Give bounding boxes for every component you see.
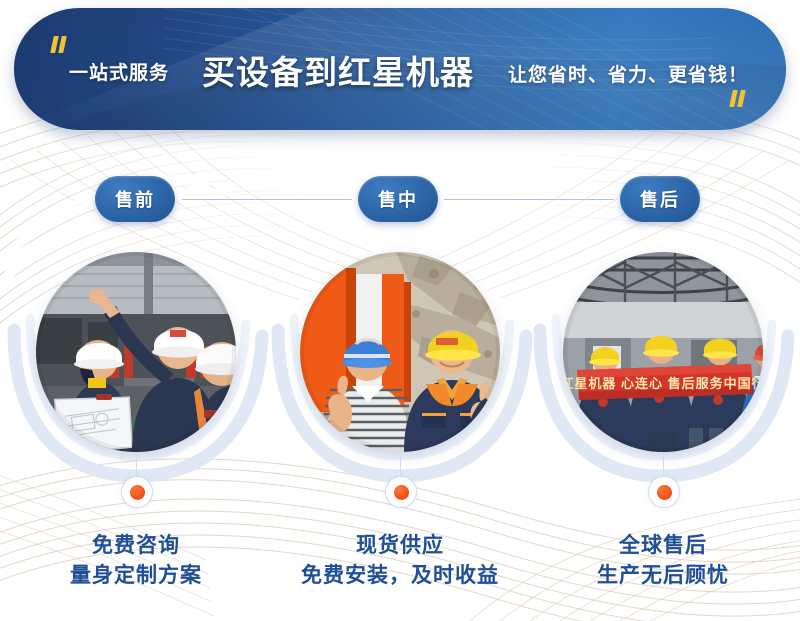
dot-stem <box>400 455 401 477</box>
dot-stem <box>663 455 664 477</box>
step-connector <box>444 199 614 200</box>
banner-title: 买设备到红星机器 <box>202 46 474 94</box>
dot-marker-presale <box>121 476 153 508</box>
photo-presale <box>36 252 236 452</box>
caption-line-2: 生产无后顾忧 <box>533 561 793 591</box>
photo-presale-illustration <box>36 252 236 452</box>
caption-line-2: 量身定制方案 <box>6 561 266 591</box>
caption-line-1: 免费咨询 <box>6 531 266 561</box>
quote-open-icon <box>52 36 65 53</box>
photo-insale-illustration <box>300 252 500 452</box>
photo-aftersale-illustration: 红星机器 心连心 售后服务中国行 <box>563 252 763 452</box>
dot-icon <box>657 485 672 500</box>
caption-insale: 现货供应 免费安装，及时收益 <box>270 531 530 592</box>
caption-aftersale: 全球售后 生产无后顾忧 <box>533 531 793 592</box>
caption-line-2: 免费安装，及时收益 <box>270 561 530 591</box>
step-label-presale[interactable]: 售前 <box>95 176 175 222</box>
dot-icon <box>130 485 145 500</box>
quote-close-icon <box>731 90 744 107</box>
photo-aftersale: 红星机器 心连心 售后服务中国行 <box>563 252 763 452</box>
step-connector <box>182 199 352 200</box>
dot-icon <box>394 485 409 500</box>
banner-tagline: 让您省时、省力、更省钱！ <box>508 60 748 87</box>
caption-presale: 免费咨询 量身定制方案 <box>6 531 266 592</box>
dot-marker-insale <box>385 476 417 508</box>
dot-marker-aftersale <box>648 476 680 508</box>
header-banner: 一站式服务 买设备到红星机器 让您省时、省力、更省钱！ <box>14 8 786 130</box>
photo-banner-text: 红星机器 心连心 售后服务中国行 <box>563 376 763 391</box>
step-label-insale[interactable]: 售中 <box>358 176 438 222</box>
photo-insale <box>300 252 500 452</box>
caption-line-1: 现货供应 <box>270 531 530 561</box>
dot-stem <box>136 455 137 477</box>
caption-line-1: 全球售后 <box>533 531 793 561</box>
step-label-aftersale[interactable]: 售后 <box>620 176 700 222</box>
banner-kicker: 一站式服务 <box>69 58 169 85</box>
